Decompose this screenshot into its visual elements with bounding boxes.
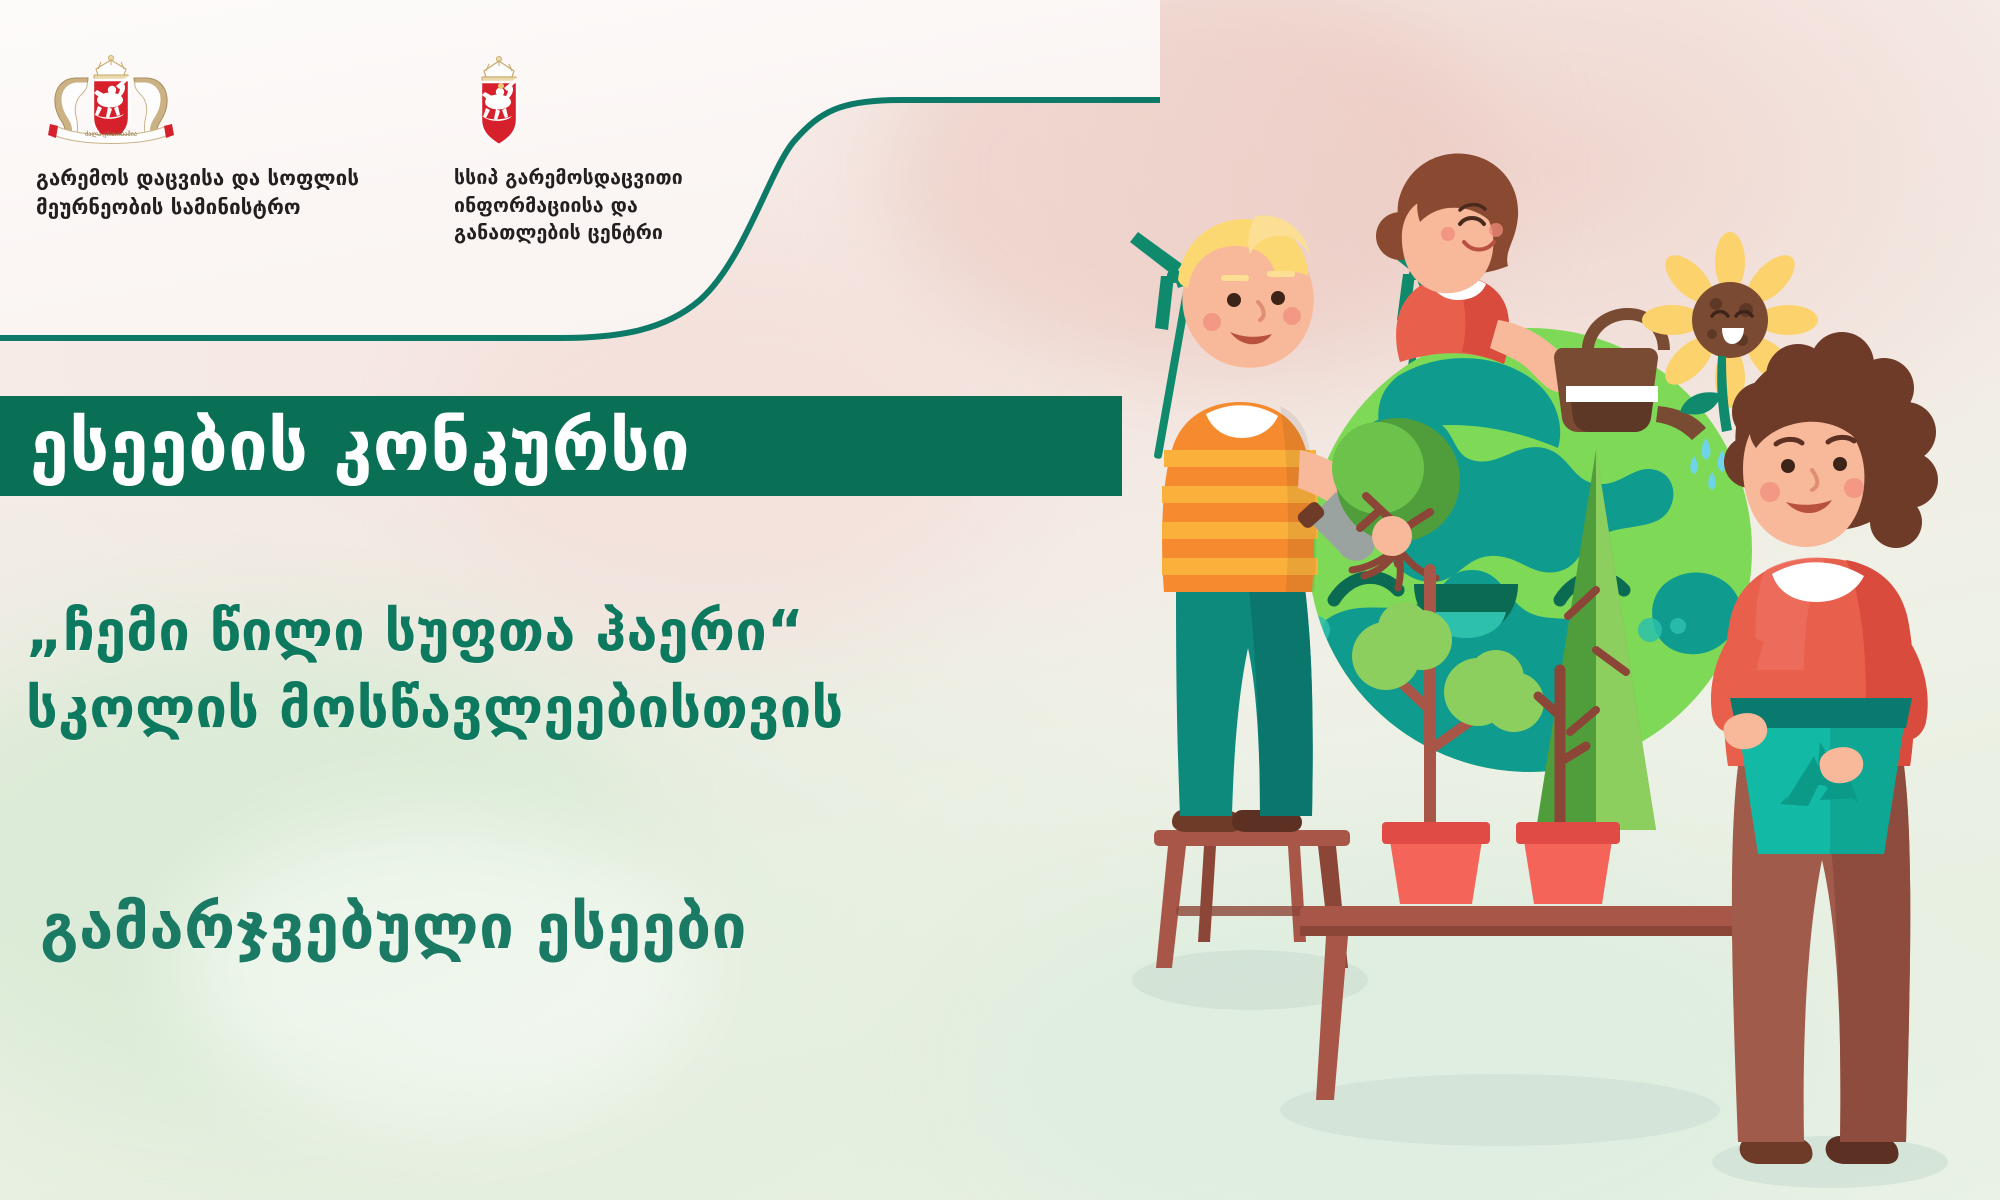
globe-blush-right-2 — [1670, 618, 1686, 634]
bin-boy-eye-right — [1833, 457, 1847, 471]
boy-blush-right — [1283, 307, 1301, 325]
logo-row: ძალა ერთობაშია გარემოს დაცვისა და სოფლის… — [0, 52, 860, 272]
boy-with-recycling-bin — [1711, 332, 1938, 1164]
table-top — [1300, 906, 1786, 928]
subtitle-line-1: „ჩემი წილი სუფთა ჰაერი“ — [26, 596, 1186, 669]
globe-blush-right — [1638, 618, 1662, 642]
georgia-greater-coat-of-arms-icon: ძალა ერთობაშია — [36, 52, 376, 148]
logo-ministry-label: გარემოს დაცვისა და სოფლის მეურნეობის სამ… — [36, 164, 376, 222]
bin-boy-eye-left — [1781, 459, 1795, 473]
logo-ministry-line-1: გარემოს დაცვისა და სოფლის — [36, 164, 376, 193]
bin-boy-blush-left — [1760, 482, 1780, 502]
logo-ministry-line-2: მეურნეობის სამინისტრო — [36, 193, 376, 222]
logo-centre-line-3: განათლების ცენტრი — [454, 219, 784, 247]
sunflower-center — [1692, 282, 1768, 358]
bin-boy-blush-right — [1844, 478, 1864, 498]
cloud-blob-white — [180, 820, 700, 1120]
poster-canvas: ძალა ერთობაშია გარემოს დაცვისა და სოფლის… — [0, 0, 2000, 1200]
boy-hand — [1372, 516, 1412, 556]
logo-centre-label: სსიპ გარემოსდაცვითი ინფორმაციისა და განა… — [454, 164, 784, 247]
wooden-stool — [1154, 830, 1350, 968]
logo-centre-line-1: სსიპ გარემოსდაცვითი — [454, 164, 784, 192]
logo-centre-line-2: ინფორმაციისა და — [454, 192, 784, 220]
illustration-children-caring-for-the-earth — [1130, 150, 2000, 1200]
logo-ministry: ძალა ერთობაშია გარემოს დაცვისა და სოფლის… — [36, 52, 376, 272]
subtitle-line-2: სკოლის მოსწავლეებისთვის — [26, 673, 1186, 746]
svg-text:ძალა ერთობაშია: ძალა ერთობაშია — [85, 129, 137, 138]
girl-blush-right — [1489, 223, 1503, 237]
boy-trousers-shade — [1248, 580, 1313, 816]
girl-blush-left — [1441, 227, 1455, 241]
logo-centre: სსიპ გარემოსდაცვითი ინფორმაციისა და განა… — [454, 52, 784, 272]
boy-eye-right — [1271, 291, 1285, 305]
title-banner: ესეების კონკურსი — [0, 396, 1122, 496]
ground-shadow-table — [1280, 1074, 1720, 1146]
footer-headline: გამარჯვებული ესეები — [40, 890, 1240, 963]
subtitle-block: „ჩემი წილი სუფთა ჰაერი“ სკოლის მოსწავლეე… — [26, 596, 1186, 746]
page-title: ესეების კონკურსი — [0, 405, 690, 487]
boy-eye-left — [1227, 293, 1241, 307]
georgia-lesser-coat-of-arms-icon — [454, 52, 784, 148]
boy-blush-left — [1203, 313, 1221, 331]
